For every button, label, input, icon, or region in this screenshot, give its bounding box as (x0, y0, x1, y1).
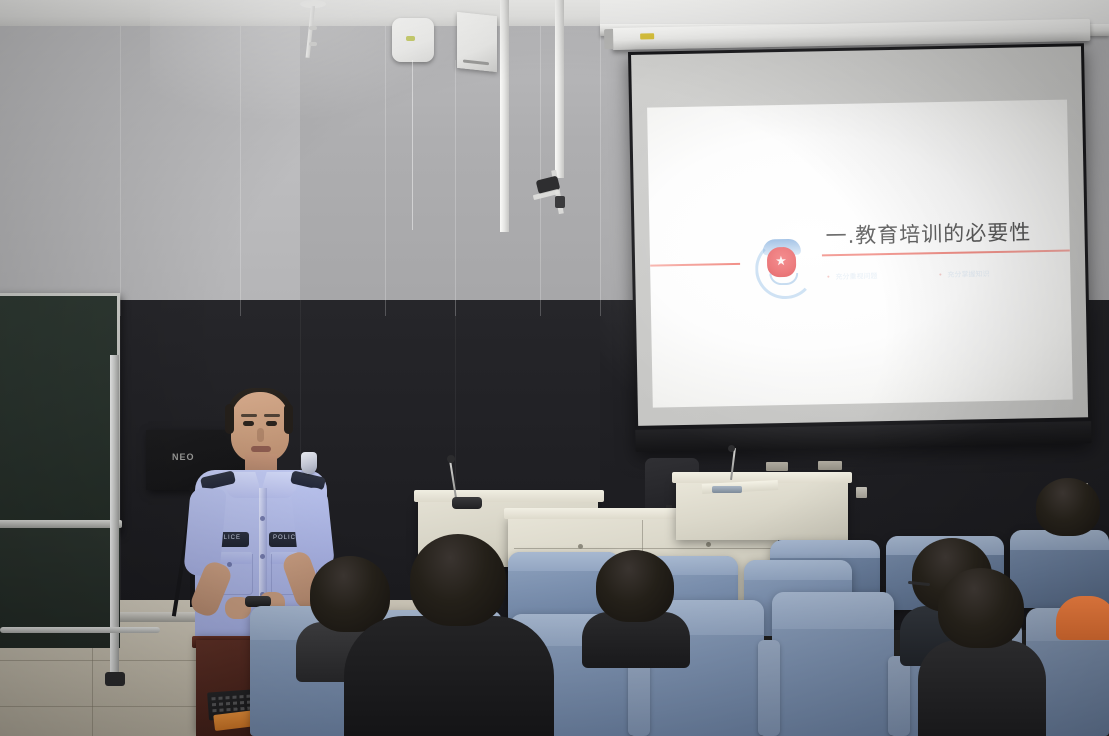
chalk-tray (0, 520, 122, 528)
student-hair (410, 534, 506, 626)
rolling-chalkboard[interactable] (0, 293, 120, 533)
shirt-button (260, 554, 265, 559)
student-jacket-dark (344, 616, 554, 736)
wall-panel-seam (455, 60, 456, 316)
eye (266, 421, 277, 426)
student-back-right (1036, 478, 1100, 536)
slide-content: ★ 一.教育培训的必要性 •充分重视问题 •充分掌握知识 (647, 100, 1073, 408)
seat-armrest (888, 656, 910, 736)
chalkboard-stand-post (110, 355, 119, 685)
ceiling-bracket-mount (300, 0, 326, 60)
ap-cable (412, 60, 413, 230)
wall-switch-plate[interactable] (856, 487, 867, 498)
status-led (406, 36, 415, 41)
wall-panel-seam (600, 26, 601, 316)
mount-clamp (555, 196, 565, 208)
student-hair (938, 568, 1024, 648)
slide-accent-rule-left (650, 263, 740, 267)
student-hair (596, 550, 674, 622)
student-mid-center (596, 550, 674, 622)
microphone-base (452, 497, 482, 509)
projection-screen[interactable]: ★ 一.教育培训的必要性 •充分重视问题 •充分掌握知识 (628, 43, 1092, 452)
presenter-hair-side (284, 404, 293, 434)
housing-warning-label (640, 33, 654, 39)
bullet-dot-icon: • (826, 273, 830, 281)
ceiling-projector-mount-icon (533, 170, 571, 216)
chalkboard-cross-bar (0, 627, 160, 633)
nose (257, 428, 264, 442)
ceiling-mount-arm (306, 6, 315, 58)
ceiling-pole (555, 0, 564, 178)
student-far-right (938, 568, 1024, 648)
mount-knob (309, 26, 317, 30)
speaker-grille (463, 60, 489, 66)
seat-armrest (758, 640, 780, 736)
bullet-text: 充分掌握知识 (947, 270, 989, 279)
presenter-hair-side (225, 404, 234, 434)
shirt-button (260, 516, 265, 521)
student-shirt (918, 640, 1046, 736)
wall-panel-seam (385, 26, 386, 316)
control-device[interactable] (712, 486, 742, 493)
slide-bullet: •充分重视问题 (826, 271, 877, 282)
drawer-knob[interactable] (706, 542, 711, 547)
mount-knob (309, 42, 317, 46)
wireless-access-point-icon (392, 18, 434, 62)
seat-headrest (744, 560, 852, 580)
student-hair (1036, 478, 1100, 536)
wall-outlet-plate[interactable] (766, 462, 788, 471)
upper-wall-left-lit (0, 26, 300, 316)
mouth (251, 446, 271, 452)
housing-end-cap (604, 29, 613, 49)
chest-metal-badge-icon (301, 452, 317, 474)
slide-heading: 一.教育培训的必要性 (825, 216, 1031, 250)
console-desk-left-top (414, 490, 604, 502)
pocket-button (227, 562, 232, 567)
slide-accent-rule (822, 250, 1070, 257)
classroom-photo-scene: ★ 一.教育培训的必要性 •充分重视问题 •充分掌握知识 (0, 0, 1109, 736)
desk-drawer-seam (514, 548, 772, 549)
seat-headrest (770, 540, 880, 558)
chalkboard-caster-foot (105, 672, 125, 686)
slide-bullet: •充分掌握知识 (938, 269, 989, 280)
drawer-knob[interactable] (578, 544, 583, 549)
bullet-text: 充分重视问题 (835, 272, 877, 281)
seat-headrest (772, 592, 894, 629)
bullet-dot-icon: • (938, 271, 942, 279)
chalkboard-surface[interactable] (0, 296, 117, 530)
ceiling-pole (500, 0, 509, 232)
wall-outlet-plate[interactable] (818, 461, 842, 470)
wall-speaker-icon (457, 12, 497, 72)
eye (243, 421, 254, 426)
wall-panel-seam-lower (120, 300, 121, 600)
badge-star-icon: ★ (774, 253, 788, 269)
auditorium-seat[interactable] (772, 592, 894, 736)
eyebrow (264, 414, 280, 417)
student-front-center (410, 534, 506, 626)
microphone-head-icon (728, 445, 735, 452)
china-police-badge-icon: ★ (762, 233, 803, 286)
projected-slide: ★ 一.教育培训的必要性 •充分重视问题 •充分掌握知识 (647, 100, 1073, 408)
eyebrow (241, 414, 257, 417)
wall-panel-seam (240, 26, 241, 316)
wall-panel-seam (120, 26, 121, 316)
microphone-head-icon (447, 455, 455, 463)
student-shirt-orange (1056, 596, 1109, 640)
